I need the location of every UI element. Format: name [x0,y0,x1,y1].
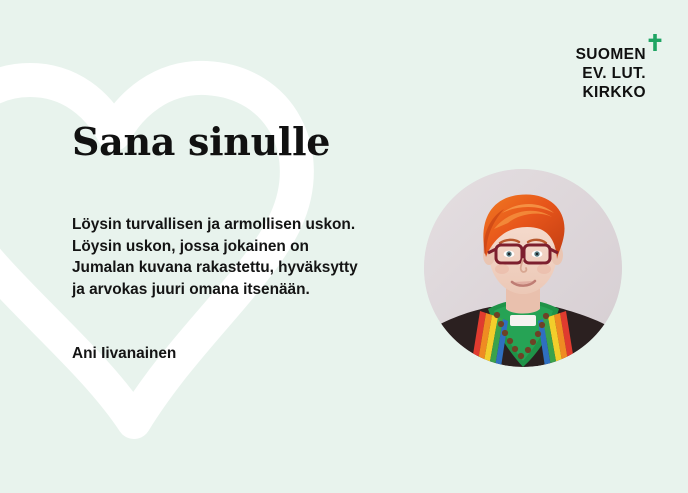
logo-line-3: KIRKKO [576,84,646,103]
cross-icon [648,34,662,51]
quote-line: ja arvokas juuri omana itsenään. [72,279,412,301]
sana-sinulle-card: SUOMEN EV. LUT. KIRKKO Sana sinulle Löys… [0,0,688,493]
page-title: Sana sinulle [72,122,330,162]
portrait-avatar [424,169,622,367]
quote-block: Löysin turvallisen ja armollisen uskon. … [72,214,412,300]
logo-line-2: EV. LUT. [576,65,646,84]
quote-line: Löysin uskon, jossa jokainen on [72,236,412,258]
quote-line: Löysin turvallisen ja armollisen uskon. [72,214,412,236]
church-logo: SUOMEN EV. LUT. KIRKKO [576,45,646,103]
logo-line-1: SUOMEN [576,46,646,65]
quote-line: Jumalan kuvana rakastettu, hyväksytty [72,257,412,279]
attribution-name: Ani Iivanainen [72,345,176,363]
logo-line-1-text: SUOMEN [576,46,646,63]
